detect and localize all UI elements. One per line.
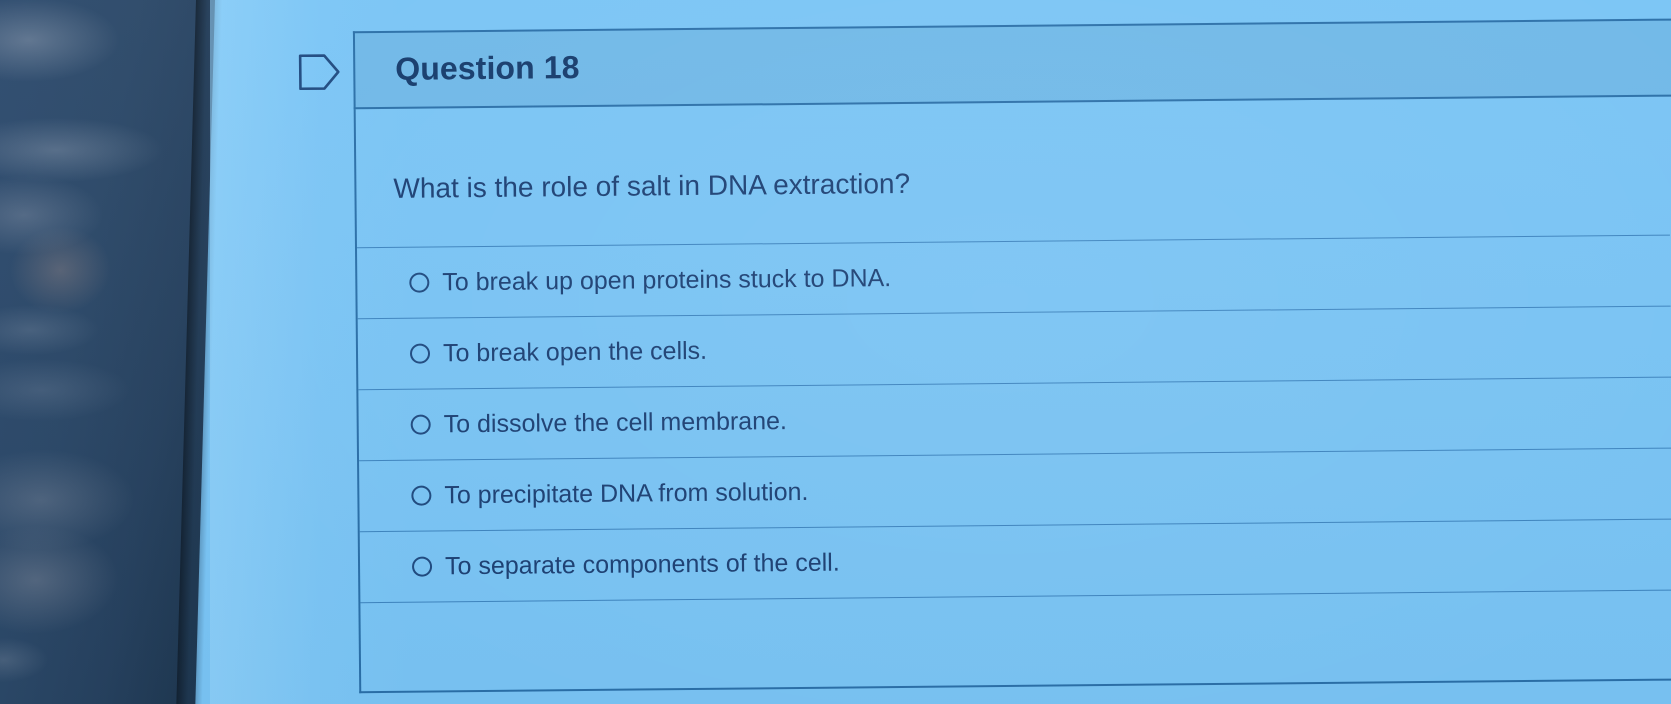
answer-option-row[interactable]: To break up open proteins stuck to DNA. [357, 235, 1671, 319]
answer-option-label: To separate components of the cell. [445, 548, 840, 581]
answer-option-row[interactable]: To break open the cells. [358, 306, 1671, 390]
answer-option-label: To break open the cells. [443, 336, 707, 368]
radio-unchecked-icon[interactable] [411, 415, 431, 435]
radio-unchecked-icon[interactable] [412, 557, 432, 577]
answer-option-label: To break up open proteins stuck to DNA. [442, 264, 891, 297]
radio-unchecked-icon[interactable] [409, 273, 429, 293]
question-prompt: What is the role of salt in DNA extracti… [393, 168, 910, 205]
answer-options-list: To break up open proteins stuck to DNA. … [357, 235, 1671, 603]
answer-option-row[interactable]: To dissolve the cell membrane. [358, 377, 1671, 461]
answer-option-row[interactable]: To separate components of the cell. [360, 519, 1671, 603]
radio-unchecked-icon[interactable] [410, 344, 430, 364]
quiz-page: Question 18 What is the role of salt in … [0, 0, 1671, 704]
answer-option-label: To precipitate DNA from solution. [444, 477, 808, 509]
answer-option-label: To dissolve the cell membrane. [444, 407, 787, 439]
page-title: Question 18 [395, 49, 580, 88]
radio-unchecked-icon[interactable] [411, 486, 431, 506]
screen-photo: Question 18 What is the role of salt in … [0, 0, 1671, 704]
question-header-band: Question 18 [353, 18, 1671, 109]
answer-option-row[interactable]: To precipitate DNA from solution. [359, 448, 1671, 532]
tag-outline-icon[interactable] [298, 53, 340, 90]
